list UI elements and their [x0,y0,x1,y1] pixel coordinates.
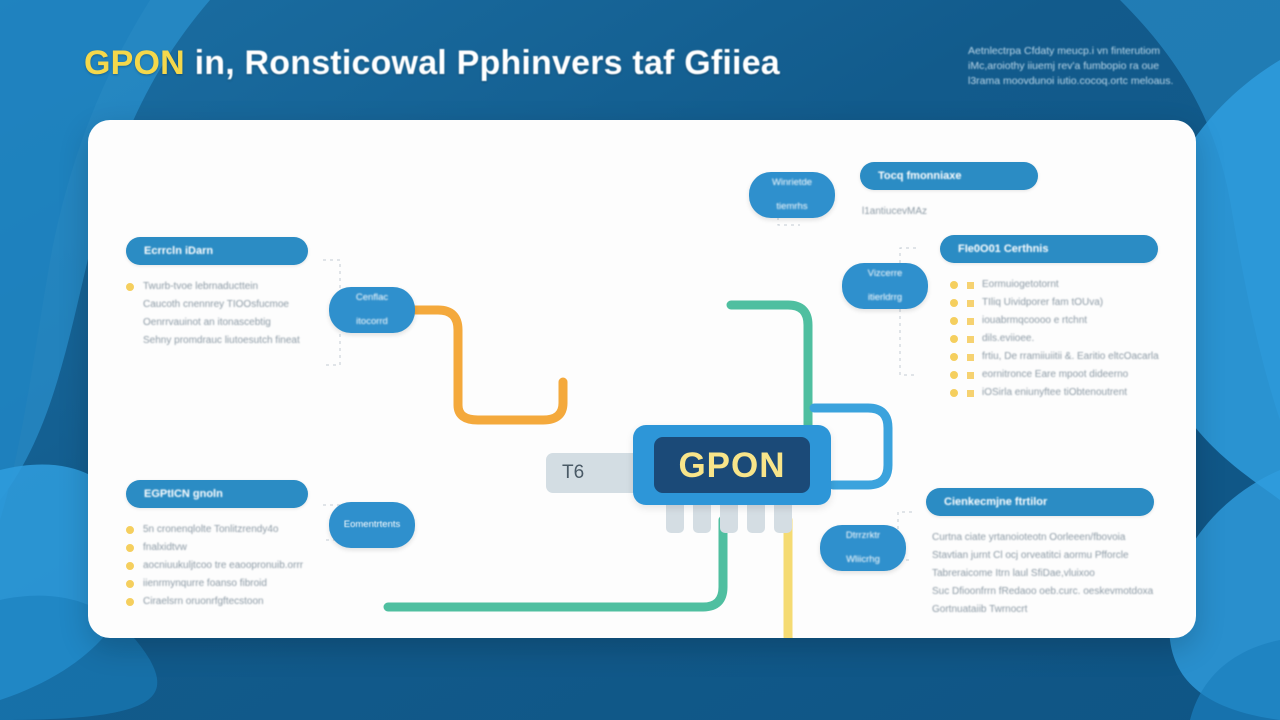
wire-teal-top [731,305,808,440]
card-bottom-right[interactable]: Cienkecmjne ftrtilor Curtna ciate yrtano… [926,488,1154,619]
card-top-right[interactable]: FIe0O01 Certhnis Eormuiogetotornt TIliq … [940,235,1158,402]
list-item-label: fnalxidtvw [143,539,187,557]
list-item: Eormuiogetotornt [950,276,1158,294]
list-item-label: Caucoth cnennrey TIOOsfucmoe [143,296,308,314]
chip-pins [666,503,806,533]
list-item: frtiu, De rramiiuiitii &. Earitio eltcOa… [950,348,1158,366]
bullet-dot-icon [126,598,134,606]
node-right-upper[interactable]: Vizcerreitierldrrg [842,263,928,309]
node-left-upper[interactable]: Cenflacitocorrd [329,287,415,333]
node-right-lower-label: DtrrzrktrWliicrhg [830,530,896,566]
node-left-lower[interactable]: Eomentrtents [329,502,415,548]
bullet-dot-icon [126,283,134,291]
list-item-label: 5n cronenqlolte Tonlitzrendy4o [143,521,278,539]
chip-pin [774,503,792,533]
card-top-right-header[interactable]: FIe0O01 Certhnis [940,235,1158,263]
chip-pin [747,503,765,533]
list-item-label: Curtna ciate yrtanoioteotn Oorleeen/fbov… [932,529,1154,547]
list-item-label: Suc Dfioonfrrn fRedaoo oeb.curc. oeskevm… [932,583,1154,601]
bullet-dot-icon [126,544,134,552]
bullet-square-icon [967,282,974,289]
list-item-label: TIliq Uividporer fam tOUva) [982,294,1103,312]
card-bottom-left-header[interactable]: EGPtICN gnoln [126,480,308,508]
card-top-left-header[interactable]: Ecrrcln iDarn [126,237,308,265]
bullet-square-icon [967,318,974,325]
card-top-left[interactable]: Ecrrcln iDarn Twurb-tvoe lebrnaducttein … [126,237,308,350]
header-note-line-1: Aetnlectrpa Cfdaty meucp.i vn finterutio… [968,44,1214,59]
list-item-label: Gortnuataiib Twrnocrt [932,601,1154,619]
card-top-right-small-body: l1antiucevMAz [860,203,1038,221]
node-top-right[interactable]: Winrietdetiemrhs [749,172,835,218]
list-item-label: iienrmynqurre foanso fibroid [143,575,267,593]
list-item: Ciraelsrn oruonrfgftecstoon [126,593,308,611]
list-item-label: frtiu, De rramiiuiitii &. Earitio eltcOa… [982,348,1159,366]
list-item: iienrmynqurre foanso fibroid [126,575,308,593]
card-top-left-body: Twurb-tvoe lebrnaducttein Caucoth cnennr… [126,278,308,350]
list-item-label: Sehny promdrauc liutoesutch fineat [143,332,308,350]
list-item-label: Oenrrvauinot an itonascebtig [143,314,308,332]
wire-teal-bottom [388,520,723,607]
gpon-chip-label: GPON [678,448,785,483]
list-item: aocniuukuljtcoo tre eaoopronuib.orrr [126,557,308,575]
list-item: dils.eviioee. [950,330,1158,348]
list-item: iouabrmqcoooo e rtchnt [950,312,1158,330]
card-bottom-right-title: Cienkecmjne ftrtilor [944,496,1047,508]
bullet-dot-icon [950,299,958,307]
title-rest: in, Ronsticowal Pphinvers taf Gfiiea [195,44,780,82]
header-note-line-2: iMc,aroiothy iiuemj rev'a fumbopio ra ou… [968,59,1214,74]
list-item: fnalxidtvw [126,539,308,557]
bullet-square-icon [967,336,974,343]
node-right-lower[interactable]: DtrrzrktrWliicrhg [820,525,906,571]
list-item-label: Stavtian jurnt Cl ocj orveatitci aormu P… [932,547,1154,565]
card-bottom-left-body: 5n cronenqlolte Tonlitzrendy4o fnalxidtv… [126,521,308,611]
bullet-dot-icon [950,371,958,379]
node-right-upper-label: Vizcerreitierldrrg [852,268,919,304]
card-bottom-left[interactable]: EGPtICN gnoln 5n cronenqlolte Tonlitzren… [126,480,308,611]
card-top-left-title: Ecrrcln iDarn [144,245,213,257]
bullet-dot-icon [126,526,134,534]
bullet-square-icon [967,354,974,361]
card-top-right-title: FIe0O01 Certhnis [958,243,1048,255]
bullet-dot-icon [950,389,958,397]
wire-orange-loop [458,373,563,420]
list-item-label: l1antiucevMAz [862,203,1038,221]
list-item: Twurb-tvoe lebrnaducttein [126,278,308,296]
page-title: GPON in, Ronsticowal Pphinvers taf Gfiie… [84,44,864,92]
list-item: 5n cronenqlolte Tonlitzrendy4o [126,521,308,539]
gpon-chip[interactable]: GPON [633,425,831,505]
node-left-upper-label: Cenflacitocorrd [340,292,404,328]
list-item-label: aocniuukuljtcoo tre eaoopronuib.orrr [143,557,303,575]
bullet-dot-icon [950,281,958,289]
header-note-line-3: l3rama moovdunoi iutio.cocoq.ortc meloau… [968,74,1214,89]
card-top-right-body: Eormuiogetotornt TIliq Uividporer fam tO… [950,276,1158,402]
title-highlight: GPON [84,44,185,82]
list-item-label: Ciraelsrn oruonrfgftecstoon [143,593,264,611]
card-top-right-small[interactable]: Tocq fmonniaxe l1antiucevMAz [860,162,1038,221]
bullet-dot-icon [126,580,134,588]
card-bottom-right-body: Curtna ciate yrtanoioteotn Oorleeen/fbov… [932,529,1154,619]
card-top-right-small-header[interactable]: Tocq fmonniaxe [860,162,1038,190]
list-item-label: eornitronce Eare mpoot dideerno [982,366,1128,384]
list-item: iOSirla eniunyftee tiObtenoutrent [950,384,1158,402]
content-panel: T6 GPON Cenflacitocorrd Winrietdetiemrhs [88,120,1196,638]
card-bottom-left-title: EGPtICN gnoln [144,488,223,500]
node-top-right-label: Winrietdetiemrhs [756,177,828,213]
list-item-label: Eormuiogetotornt [982,276,1059,294]
card-bottom-right-header[interactable]: Cienkecmjne ftrtilor [926,488,1154,516]
list-item-label: iOSirla eniunyftee tiObtenoutrent [982,384,1127,402]
bullet-dot-icon [950,353,958,361]
list-item-label: Twurb-tvoe lebrnaducttein [143,278,258,296]
chip-pin [666,503,684,533]
bullet-dot-icon [950,317,958,325]
bullet-square-icon [967,390,974,397]
chip-side-tab-label: T6 [562,462,584,484]
list-item-label: Tabreraicome Itrn laul SfiDae,vluixoo [932,565,1154,583]
header-note: Aetnlectrpa Cfdaty meucp.i vn finterutio… [968,44,1214,89]
slide-stage: GPON in, Ronsticowal Pphinvers taf Gfiie… [0,0,1280,720]
list-item: eornitronce Eare mpoot dideerno [950,366,1158,384]
chip-pin [720,503,738,533]
bullet-dot-icon [126,562,134,570]
node-left-lower-label: Eomentrtents [336,519,409,531]
bullet-dot-icon [950,335,958,343]
chip-pin [693,503,711,533]
list-item: TIliq Uividporer fam tOUva) [950,294,1158,312]
gpon-chip-plate: GPON [654,437,810,493]
bullet-square-icon [967,300,974,307]
list-item-label: dils.eviioee. [982,330,1034,348]
list-item-label: iouabrmqcoooo e rtchnt [982,312,1087,330]
card-top-right-small-title: Tocq fmonniaxe [878,170,962,182]
bullet-square-icon [967,372,974,379]
